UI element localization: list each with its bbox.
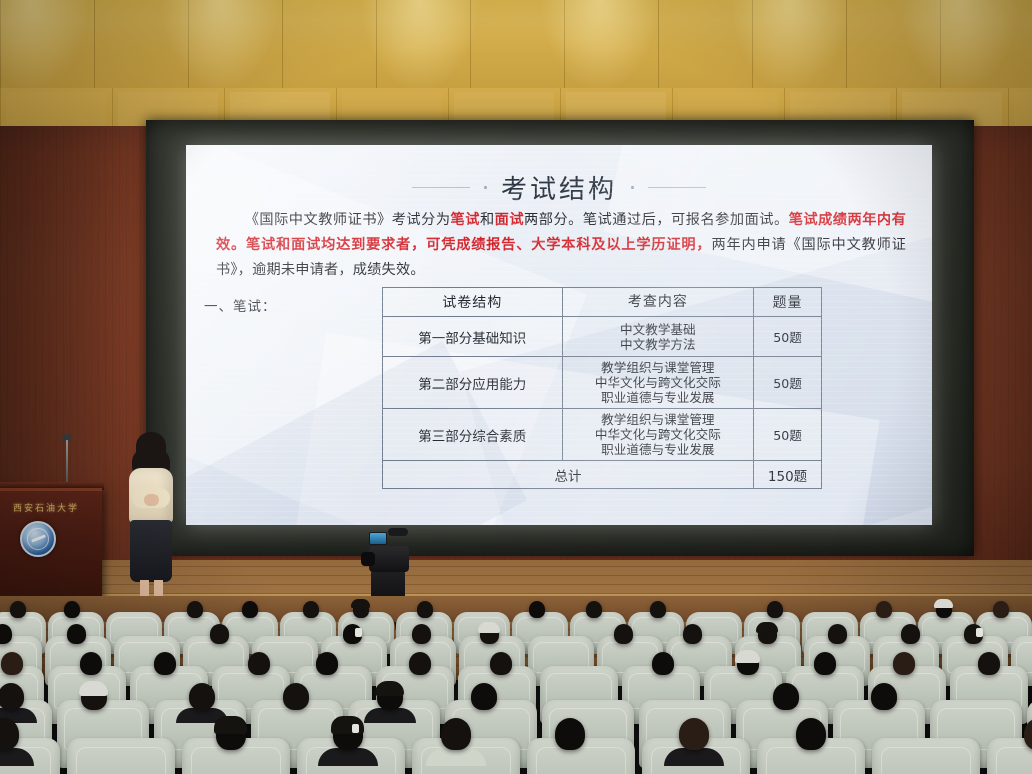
- scanline: [186, 517, 932, 518]
- audience-cap: [735, 650, 760, 663]
- audience-head: [412, 624, 431, 644]
- scanline: [186, 175, 932, 176]
- scanline: [186, 451, 932, 452]
- stone-patch: [6, 92, 106, 126]
- audience-seat: [67, 738, 175, 774]
- scanline: [186, 223, 932, 224]
- wood-grain-line: [1001, 126, 1002, 601]
- audience-head: [586, 601, 602, 618]
- scanline: [186, 385, 932, 386]
- audience-head: [417, 601, 433, 618]
- audience-head: [993, 601, 1009, 618]
- scanline: [186, 433, 932, 434]
- audience-head: [773, 683, 799, 710]
- wall-panel-seam: [94, 0, 95, 92]
- cell-paper-structure-2: 第三部分综合素质: [383, 409, 563, 461]
- scanline: [186, 163, 932, 164]
- wood-grain-line: [1015, 126, 1016, 601]
- audience-shoulders: [426, 748, 486, 766]
- audience-head: [652, 652, 674, 675]
- audience-shoulders: [318, 748, 378, 766]
- wood-grain-line: [105, 126, 106, 601]
- scanline: [186, 379, 932, 380]
- audience-head: [978, 652, 1000, 675]
- audience-head: [67, 624, 86, 644]
- scanline: [186, 403, 932, 404]
- wood-grain-line: [1029, 126, 1030, 601]
- ceiling-light-glow: [540, 0, 660, 92]
- scanline: [186, 295, 932, 296]
- cell-question-count-1: 50题: [754, 357, 822, 409]
- audience-head: [796, 718, 826, 750]
- scanline: [186, 205, 932, 206]
- cell-paper-structure-1: 第二部分应用能力: [383, 357, 563, 409]
- scanline: [186, 199, 932, 200]
- paragraph-segment-1: 笔试: [451, 212, 480, 228]
- audience-head: [555, 718, 585, 750]
- scanline: [186, 445, 932, 446]
- speaker-skirt: [130, 520, 172, 582]
- cell-assessed-content-1: 教学组织与课堂管理中华文化与跨文化交际职业道德与专业发展: [562, 357, 754, 409]
- hair-clip: [352, 724, 359, 733]
- audience-head: [283, 683, 309, 710]
- wood-grain-line: [112, 126, 113, 601]
- audience-head: [871, 683, 897, 710]
- audience-head: [248, 652, 270, 675]
- audience-head: [187, 601, 203, 618]
- wood-grain-line: [994, 126, 995, 601]
- part-name: 基础知识: [472, 331, 526, 347]
- scanline: [186, 349, 932, 350]
- scanline: [186, 337, 932, 338]
- audience-seating: [0, 596, 1032, 774]
- scanline: [186, 319, 932, 320]
- part-number: 第二部分: [418, 373, 472, 393]
- audience-head: [0, 683, 24, 710]
- wood-grain-line: [1008, 126, 1009, 601]
- scanline: [186, 367, 932, 368]
- camera-body: [369, 546, 409, 572]
- audience-shoulders: [364, 708, 416, 723]
- speaker-person: [118, 432, 184, 600]
- scanline: [186, 421, 932, 422]
- audience-head: [441, 718, 471, 750]
- audience-cap: [756, 622, 778, 633]
- scanline: [186, 499, 932, 500]
- scanline: [186, 493, 932, 494]
- audience-head: [893, 652, 915, 675]
- slide-content: 考试结构 《国际中文教师证书》考试分为笔试和面试两部分。笔试通过后，可报名参加面…: [186, 145, 932, 525]
- scanline: [186, 235, 932, 236]
- scanline: [186, 241, 932, 242]
- paragraph-segment-4: 两部分。笔试通过后，可报名参加面试。: [524, 212, 789, 228]
- table-row: 第三部分综合素质教学组织与课堂管理中华文化与跨文化交际职业道德与专业发展50题: [383, 409, 822, 461]
- podium: 西安石油大学: [0, 488, 102, 600]
- audience-head: [529, 601, 545, 618]
- audience-head: [490, 652, 512, 675]
- scanline: [186, 271, 932, 272]
- scanline: [186, 229, 932, 230]
- scanline: [186, 523, 932, 524]
- scanline: [186, 343, 932, 344]
- scanline: [186, 481, 932, 482]
- scanline: [186, 301, 932, 302]
- audience-head: [471, 683, 497, 710]
- cell-question-count-2: 50题: [754, 409, 822, 461]
- wall-panel-seam: [282, 0, 283, 92]
- university-emblem-icon: [20, 521, 56, 557]
- paragraph-segment-2: 和: [480, 212, 495, 228]
- audience-head: [876, 601, 892, 618]
- paragraph-segment-0: 《国际中文教师证书》考试分为: [244, 212, 450, 228]
- audience-head: [828, 624, 847, 644]
- led-screen-bezel: 考试结构 《国际中文教师证书》考试分为笔试和面试两部分。笔试通过后，可报名参加面…: [146, 120, 974, 556]
- scanline: [186, 475, 932, 476]
- audience-head: [1, 652, 23, 675]
- scanline: [186, 265, 932, 266]
- audience-cap: [331, 716, 364, 734]
- audience-head: [679, 718, 709, 750]
- scanline: [186, 169, 932, 170]
- table-row: 第二部分应用能力教学组织与课堂管理中华文化与跨文化交际职业道德与专业发展50题: [383, 357, 822, 409]
- audience-head: [154, 652, 176, 675]
- audience-head: [10, 601, 26, 618]
- scanline: [186, 439, 932, 440]
- part-name: 综合素质: [472, 429, 526, 445]
- content-line-1: 中华文化与跨文化交际: [563, 375, 754, 390]
- audience-head: [614, 624, 633, 644]
- audience-head: [767, 601, 783, 618]
- scanline: [186, 217, 932, 218]
- scanline: [186, 313, 932, 314]
- audience-head: [242, 601, 258, 618]
- audience-cap: [934, 599, 953, 608]
- band-seam: [1008, 88, 1009, 130]
- scanline: [186, 511, 932, 512]
- scanline: [186, 211, 932, 212]
- scanline: [186, 307, 932, 308]
- scanline: [186, 463, 932, 464]
- scanline: [186, 151, 932, 152]
- scanline: [186, 361, 932, 362]
- audience-head: [650, 601, 666, 618]
- exam-structure-table-wrap: 试卷结构 考查内容 题量 第一部分基础知识中文教学基础中文教学方法50题第二部分…: [382, 287, 822, 489]
- audience-head: [303, 601, 319, 618]
- scanline: [186, 331, 932, 332]
- podium-university-name: 西安石油大学: [0, 501, 92, 514]
- scanline: [186, 415, 932, 416]
- camera-lens-icon: [361, 552, 375, 566]
- scanline: [186, 409, 932, 410]
- audience-cap: [351, 599, 370, 608]
- speaker-hands: [144, 494, 159, 506]
- wood-grain-line: [1022, 126, 1023, 601]
- scanline: [186, 505, 932, 506]
- scanline: [186, 247, 932, 248]
- band-seam: [112, 88, 113, 130]
- exam-structure-table: 试卷结构 考查内容 题量 第一部分基础知识中文教学基础中文教学方法50题第二部分…: [382, 287, 822, 489]
- audience-head: [683, 624, 702, 644]
- audience-head: [316, 652, 338, 675]
- scanline: [186, 325, 932, 326]
- content-line-0: 中文教学基础: [563, 322, 754, 337]
- audience-seat: [872, 738, 980, 774]
- audience-cap: [79, 681, 108, 696]
- scanline: [186, 469, 932, 470]
- lecture-hall-photo: 考试结构 《国际中文教师证书》考试分为笔试和面试两部分。笔试通过后，可报名参加面…: [0, 0, 1032, 774]
- paragraph-segment-3: 面试: [495, 212, 524, 228]
- scanline: [186, 253, 932, 254]
- scanline: [186, 487, 932, 488]
- ceiling-light-glow: [730, 0, 850, 92]
- ceiling-light-glow: [0, 0, 90, 92]
- scanline: [186, 259, 932, 260]
- audience-head: [64, 601, 80, 618]
- audience-cap: [375, 681, 404, 696]
- presentation-slide: 考试结构 《国际中文教师证书》考试分为笔试和面试两部分。笔试通过后，可报名参加面…: [186, 145, 932, 525]
- scanline: [186, 145, 932, 146]
- audience-head: [210, 624, 229, 644]
- audience-head: [901, 624, 920, 644]
- scanline: [186, 391, 932, 392]
- scanline: [186, 397, 932, 398]
- audience-shoulders: [664, 748, 724, 766]
- ceiling-light-glow: [160, 0, 280, 92]
- hair-clip: [355, 628, 362, 637]
- hair-clip: [976, 628, 983, 637]
- scanline: [186, 457, 932, 458]
- ceiling-light-glow: [360, 0, 480, 92]
- audience-head: [80, 652, 102, 675]
- stone-patch: [1014, 92, 1032, 126]
- scanline: [186, 283, 932, 284]
- audience-head: [189, 683, 215, 710]
- scanline: [186, 355, 932, 356]
- scanline: [186, 277, 932, 278]
- audience-cap: [478, 622, 500, 633]
- wood-grain-line: [987, 126, 988, 601]
- audience-cap: [214, 716, 247, 734]
- scanline: [186, 289, 932, 290]
- audience-head: [814, 652, 836, 675]
- wood-grain-line: [980, 126, 981, 601]
- scanline: [186, 373, 932, 374]
- cell-assessed-content-2: 教学组织与课堂管理中华文化与跨文化交际职业道德与专业发展: [562, 409, 754, 461]
- section-label-written-exam: 一、笔试：: [204, 295, 277, 315]
- audience-head: [409, 652, 431, 675]
- scanline: [186, 187, 932, 188]
- scanline: [186, 181, 932, 182]
- speaker-hair-top: [136, 432, 166, 470]
- camera-lcd-screen: [369, 532, 387, 545]
- upper-wall-panels: [0, 0, 1032, 92]
- ceiling-light-glow: [900, 0, 1020, 92]
- scanline: [186, 157, 932, 158]
- scanline: [186, 193, 932, 194]
- band-seam: [0, 88, 1, 130]
- scanline: [186, 427, 932, 428]
- camera-shotgun-mic: [388, 528, 408, 536]
